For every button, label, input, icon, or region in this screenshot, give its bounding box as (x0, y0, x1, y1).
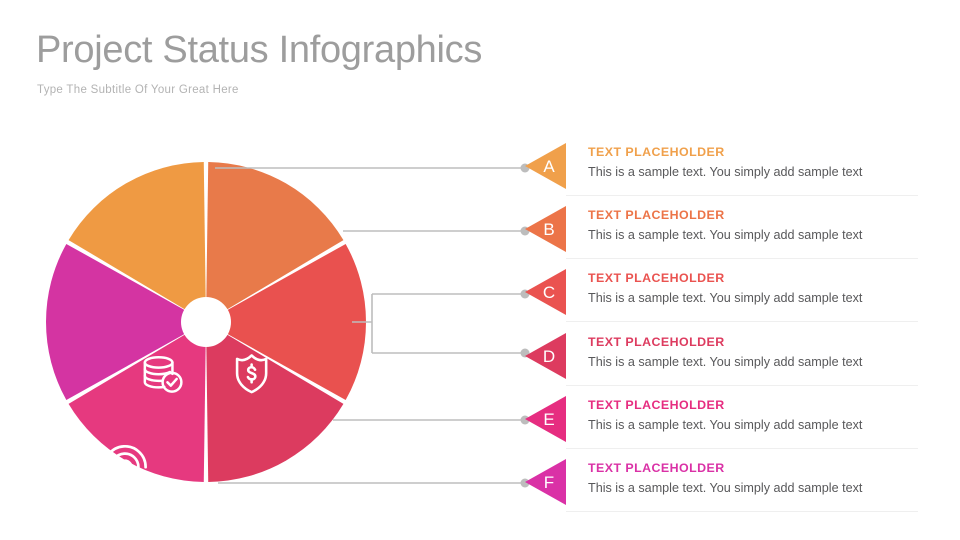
legend-marker-b[interactable]: B (522, 203, 566, 255)
legend-marker-letter: A (543, 157, 555, 176)
legend-marker-letter: D (543, 347, 555, 366)
legend-marker-d[interactable]: D (522, 330, 566, 382)
legend-marker-a[interactable]: A (522, 140, 566, 192)
legend-marker-f[interactable]: F (522, 456, 566, 508)
legend-marker-letter: C (543, 283, 555, 302)
legend-marker-letter: B (543, 220, 554, 239)
legend-marker-letter: F (544, 473, 554, 492)
legend-markers: ABCDEF (0, 0, 960, 540)
slide-canvas: Project Status Infographics Type The Sub… (0, 0, 960, 540)
legend-marker-letter: E (543, 410, 554, 429)
legend-marker-c[interactable]: C (522, 266, 566, 318)
legend-marker-e[interactable]: E (522, 393, 566, 445)
